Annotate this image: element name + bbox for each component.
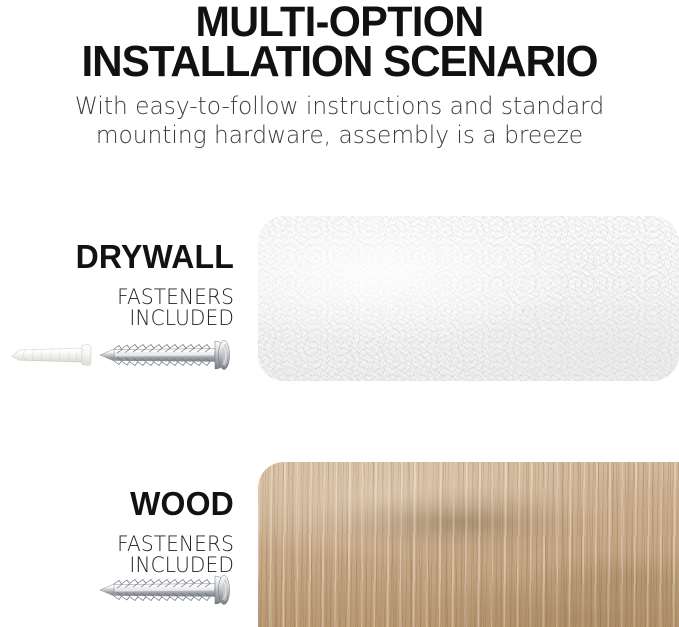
page-title: MULTI-OPTION INSTALLATION SCENARIO: [14, 0, 666, 83]
drywall-panel-sheen: [258, 216, 679, 381]
drywall-screw-icon: [97, 333, 238, 377]
subtitle-line-2: mounting hardware, assembly is a breeze: [10, 121, 669, 150]
drywall-label-block: DRYWALL FASTENERS INCLUDED: [0, 240, 234, 329]
wood-material-name: WOOD: [7, 487, 234, 520]
drywall-fasteners-note: FASTENERS INCLUDED: [9, 273, 234, 329]
wood-screw-icon: [97, 568, 238, 612]
installation-scenario-graphic: MULTI-OPTION INSTALLATION SCENARIO With …: [0, 0, 679, 627]
page-subtitle: With easy-to-follow instructions and sta…: [10, 83, 669, 151]
title-line-1: MULTI-OPTION: [14, 2, 666, 42]
wall-anchor-icon: [8, 333, 94, 377]
subtitle-line-1: With easy-to-follow instructions and sta…: [10, 92, 669, 121]
drywall-material-name: DRYWALL: [7, 240, 234, 273]
wood-texture-panel: [258, 462, 679, 627]
drywall-texture-panel: [258, 216, 679, 381]
wood-panel-sheen: [258, 462, 679, 627]
title-line-2: INSTALLATION SCENARIO: [14, 42, 666, 83]
header: MULTI-OPTION INSTALLATION SCENARIO With …: [0, 0, 679, 150]
wood-label-block: WOOD FASTENERS INCLUDED: [0, 487, 234, 576]
